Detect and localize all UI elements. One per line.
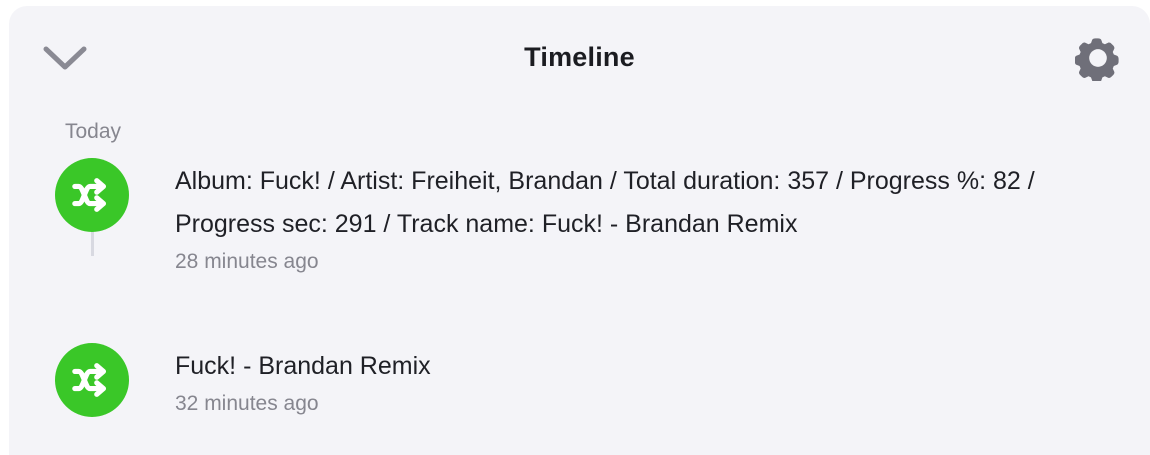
card-header: Timeline <box>9 6 1150 110</box>
entry-text: Fuck! - Brandan Remix <box>175 345 1055 388</box>
timeline-card: Timeline Today <box>9 6 1150 455</box>
entry-text: Album: Fuck! / Artist: Freiheit, Brandan… <box>175 160 1055 246</box>
timeline-entry[interactable]: Fuck! - Brandan Remix 32 minutes ago <box>9 343 1150 453</box>
shuffle-icon[interactable] <box>55 343 129 417</box>
entry-timestamp: 28 minutes ago <box>175 250 1070 274</box>
shuffle-icon[interactable] <box>55 158 129 232</box>
timeline-list: Album: Fuck! / Artist: Freiheit, Brandan… <box>9 158 1150 453</box>
entry-timestamp: 32 minutes ago <box>175 392 1070 416</box>
entry-rail <box>9 158 175 232</box>
settings-button[interactable] <box>1068 30 1128 90</box>
entry-rail <box>9 343 175 417</box>
page-title: Timeline <box>9 42 1150 73</box>
gear-icon <box>1075 35 1121 86</box>
entry-body: Fuck! - Brandan Remix 32 minutes ago <box>175 343 1150 416</box>
timeline-entry[interactable]: Album: Fuck! / Artist: Freiheit, Brandan… <box>9 158 1150 343</box>
day-label: Today <box>65 120 121 144</box>
entry-body: Album: Fuck! / Artist: Freiheit, Brandan… <box>175 158 1150 274</box>
